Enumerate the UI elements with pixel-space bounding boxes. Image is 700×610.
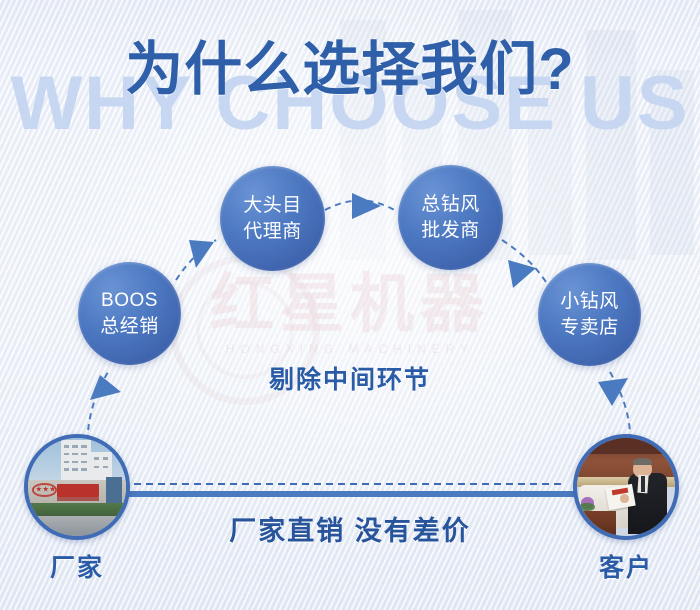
chain-node-boos-line1: BOOS [101, 288, 158, 313]
factory-gate-photo [24, 434, 130, 540]
endpoint-client-label: 客户 [549, 548, 700, 584]
chain-node-agent[interactable]: 大头目 代理商 [220, 166, 325, 271]
arrowhead-to-wholesale [352, 193, 381, 219]
chain-node-agent-line1: 大头目 [243, 193, 302, 218]
arrowhead-to-agent [189, 240, 214, 268]
why-choose-us-banner: 红星机器 HONGXING MACHINERY WHY CHOOSE US 为什… [0, 0, 700, 610]
chain-node-boos-line2: 总经销 [100, 314, 159, 339]
chain-node-wholesale-line2: 批发商 [421, 218, 480, 243]
businessman-reading-photo [573, 434, 679, 540]
chain-node-store[interactable]: 小钻风 专卖店 [538, 263, 641, 366]
chain-node-wholesale-line1: 总钻风 [421, 192, 480, 217]
chain-node-agent-line2: 代理商 [243, 219, 302, 244]
chain-node-wholesale[interactable]: 总钻风 批发商 [398, 165, 503, 270]
chain-node-boos[interactable]: BOOS 总经销 [78, 262, 181, 365]
chain-node-store-line1: 小钻风 [560, 289, 619, 314]
chain-node-store-line2: 专卖店 [560, 315, 619, 340]
endpoint-client[interactable]: 客户 [573, 434, 679, 540]
endpoint-factory[interactable]: 厂家 [24, 434, 130, 540]
endpoint-factory-label: 厂家 [0, 548, 154, 584]
middle-slogan: 剔除中间环节 [0, 360, 700, 396]
